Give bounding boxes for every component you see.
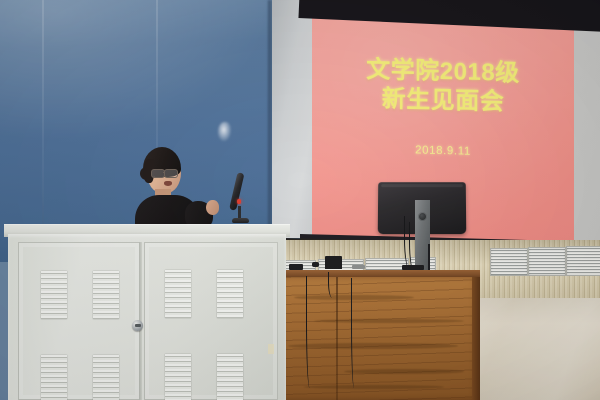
presenter-mouth bbox=[164, 181, 172, 186]
wood-grain bbox=[304, 385, 444, 389]
cabinet-louver-vent bbox=[93, 271, 119, 319]
desk-device bbox=[352, 265, 365, 269]
metal-equipment-cabinet[interactable] bbox=[8, 234, 286, 400]
wood-grain bbox=[344, 369, 464, 374]
lecture-hall-photo: 文学院2018级 新生见面会 2018.9.11 bbox=[0, 0, 600, 400]
wall-vent-panel bbox=[566, 246, 600, 276]
cabinet-door-right[interactable] bbox=[144, 242, 278, 400]
glasses-bridge bbox=[163, 172, 165, 173]
cabinet-louver-vent bbox=[217, 354, 243, 400]
glasses-left-lens bbox=[151, 169, 165, 178]
cabinet-lock[interactable] bbox=[132, 320, 143, 331]
desk-cable bbox=[306, 276, 312, 388]
cabinet-louver-vent bbox=[41, 355, 67, 400]
dell-logo-icon bbox=[418, 212, 427, 221]
microphone-stand-base bbox=[232, 218, 249, 223]
cabinet-label-sticker bbox=[268, 344, 274, 354]
desk-cable bbox=[351, 278, 356, 388]
glasses-right-lens bbox=[164, 169, 178, 178]
desk-device bbox=[312, 262, 319, 267]
monitor-bevel bbox=[381, 184, 463, 187]
cabinet-door-left[interactable] bbox=[18, 242, 140, 400]
desk-side-edge bbox=[472, 277, 480, 400]
slide-title-block: 文学院2018级 新生见面会 bbox=[312, 54, 574, 119]
slide-title-line-2: 新生见面会 bbox=[312, 83, 574, 118]
desk-cable bbox=[328, 272, 335, 298]
presenter-hand bbox=[206, 200, 219, 215]
wood-grain bbox=[288, 343, 458, 349]
wooden-desk-front bbox=[284, 277, 478, 400]
wall-vent-panel bbox=[490, 248, 528, 276]
grey-wall-strip bbox=[272, 0, 316, 238]
cabinet-louver-vent bbox=[165, 354, 191, 400]
wall-vent-panel bbox=[528, 247, 566, 276]
cabinet-louver-vent bbox=[93, 355, 119, 400]
desk-device bbox=[325, 256, 342, 269]
slide-date: 2018.9.11 bbox=[312, 142, 574, 160]
cabinet-lock-slot bbox=[135, 324, 141, 327]
microphone-indicator-led bbox=[237, 199, 241, 204]
cabinet-louver-vent bbox=[217, 270, 243, 318]
desk-panel-seam bbox=[336, 277, 338, 400]
cabinet-louver-vent bbox=[41, 271, 67, 319]
presenter bbox=[133, 143, 241, 235]
cabinet-louver-vent bbox=[165, 270, 191, 318]
